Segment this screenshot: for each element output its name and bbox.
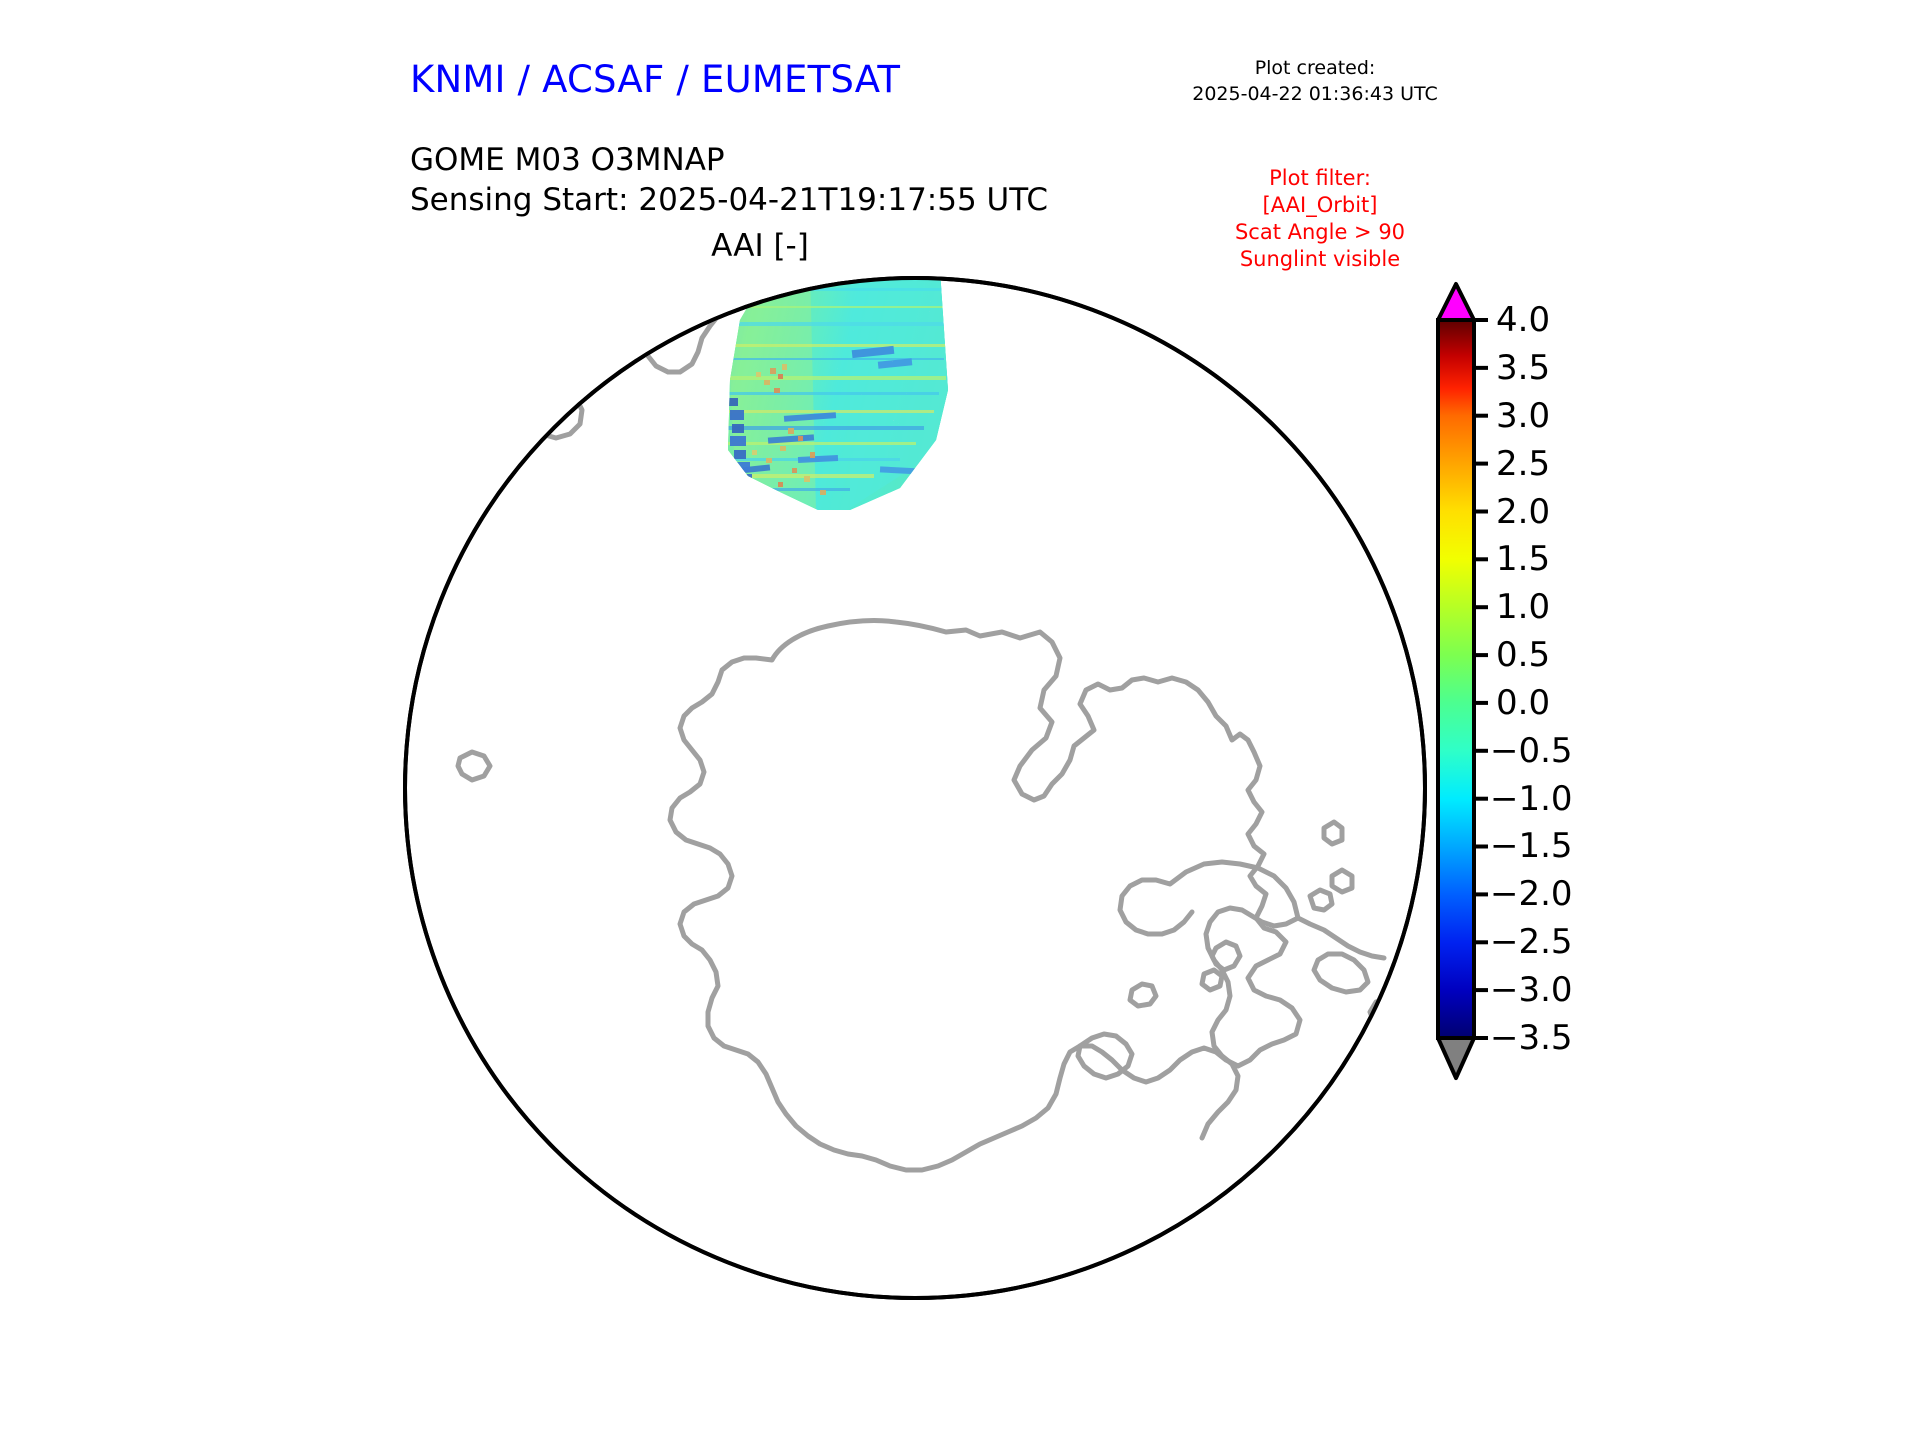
colorbar-tick-label-6: 1.0 <box>1496 590 1550 624</box>
plot-filter-block: Plot filter: [AAI_Orbit] Scat Angle > 90… <box>1160 165 1480 273</box>
colorbar-tick-label-14: −3.0 <box>1490 973 1573 1007</box>
variable-title: AAI [-] <box>410 228 1110 264</box>
colorbar-tick-label-0: 4.0 <box>1496 303 1550 337</box>
map-plot-area <box>380 260 1450 1320</box>
plot-created-timestamp: 2025-04-22 01:36:43 UTC <box>1155 81 1475 107</box>
colorbar-tick-label-11: −1.5 <box>1490 829 1573 863</box>
instrument-line: GOME M03 O3MNAP <box>410 140 1048 180</box>
colorbar-over-arrow <box>1438 284 1474 320</box>
colorbar-tick-label-7: 0.5 <box>1496 638 1550 672</box>
colorbar: 4.0 3.5 3.0 2.5 2.0 1.5 1.0 0.5 0.0 −0.5… <box>1428 278 1768 1098</box>
colorbar-tick-label-9: −0.5 <box>1490 734 1573 768</box>
colorbar-tick-label-5: 1.5 <box>1496 542 1550 576</box>
plot-created-label: Plot created: <box>1155 55 1475 81</box>
colorbar-ticks <box>1474 320 1488 1038</box>
colorbar-tick-label-10: −1.0 <box>1490 782 1573 816</box>
colorbar-tick-label-3: 2.5 <box>1496 447 1550 481</box>
map-svg <box>380 260 1450 1320</box>
sensing-start-line: Sensing Start: 2025-04-21T19:17:55 UTC <box>410 180 1048 220</box>
organisation-title: KNMI / ACSAF / EUMETSAT <box>410 58 900 101</box>
colorbar-gradient <box>1438 320 1474 1038</box>
colorbar-under-arrow <box>1438 1038 1474 1078</box>
colorbar-tick-label-2: 3.0 <box>1496 399 1550 433</box>
plot-canvas: KNMI / ACSAF / EUMETSAT Plot created: 20… <box>0 0 1920 1440</box>
colorbar-tick-label-13: −2.5 <box>1490 925 1573 959</box>
plot-created-block: Plot created: 2025-04-22 01:36:43 UTC <box>1155 55 1475 107</box>
product-info-block: GOME M03 O3MNAP Sensing Start: 2025-04-2… <box>410 140 1048 220</box>
colorbar-tick-label-15: −3.5 <box>1490 1021 1573 1055</box>
plot-filter-name: [AAI_Orbit] <box>1160 192 1480 219</box>
colorbar-tick-label-12: −2.0 <box>1490 877 1573 911</box>
plot-filter-condition: Scat Angle > 90 <box>1160 219 1480 246</box>
colorbar-tick-label-8: 0.0 <box>1496 686 1550 720</box>
colorbar-svg <box>1428 278 1488 1098</box>
colorbar-tick-label-4: 2.0 <box>1496 495 1550 529</box>
plot-filter-label: Plot filter: <box>1160 165 1480 192</box>
colorbar-tick-label-1: 3.5 <box>1496 351 1550 385</box>
